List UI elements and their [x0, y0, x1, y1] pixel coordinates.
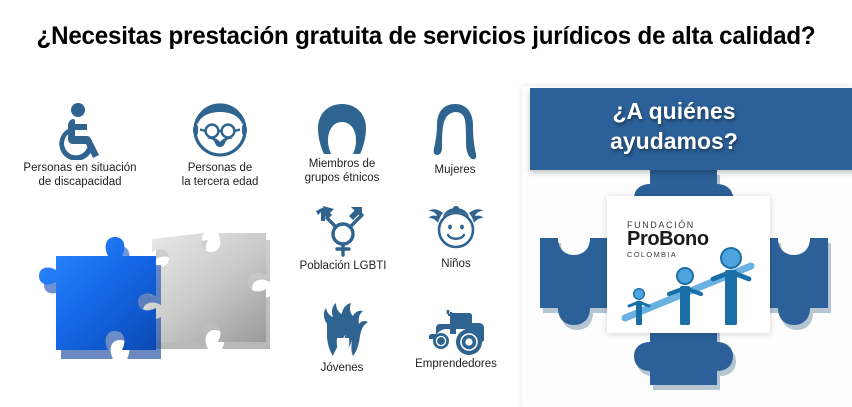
wheelchair-icon [54, 102, 106, 160]
panel-header: ¿A quiénes ayudamos? [530, 88, 852, 170]
audience-label: Personas de la tercera edad [160, 162, 280, 189]
afro-hair-icon [315, 102, 369, 156]
audience-item-lgbti[interactable]: Población LGBTI [288, 202, 398, 274]
puzzle-pieces-graphic [22, 212, 284, 380]
audience-label: Jóvenes [292, 362, 392, 376]
transgender-symbol-icon [315, 202, 371, 258]
panel-header-title: ¿A quiénes ayudamos? [530, 96, 818, 156]
audience-item-etnicos[interactable]: Miembros de grupos étnicos [290, 102, 394, 185]
audience-label: Población LGBTI [288, 260, 398, 274]
spiky-hair-icon [314, 302, 370, 360]
audience-label: Mujeres [410, 164, 500, 178]
audience-label: Miembros de grupos étnicos [290, 158, 394, 185]
right-panel: ¿A quiénes ayudamos? FUNDACIÓN ProBono C… [512, 80, 852, 407]
audience-label: Emprendedores [404, 358, 508, 372]
puzzle-piece-blue [39, 237, 161, 359]
audience-label: Personas en situación de discapacidad [8, 162, 152, 189]
long-hair-icon [430, 102, 480, 162]
logo-tile: FUNDACIÓN ProBono COLOMBIA [607, 196, 770, 333]
audience-item-ninos[interactable]: Niños [412, 198, 500, 272]
child-face-icon [427, 198, 485, 256]
audience-item-emprendedores[interactable]: Emprendedores [404, 308, 508, 372]
audience-item-jovenes[interactable]: Jóvenes [292, 302, 392, 376]
three-ascending-people-icon [619, 246, 759, 328]
elderly-face-icon [190, 100, 250, 160]
tractor-icon [424, 308, 488, 356]
audience-label: Niños [412, 258, 500, 272]
audience-item-mujeres[interactable]: Mujeres [410, 102, 500, 178]
page-title: ¿Necesitas prestación gratuita de servic… [15, 22, 837, 51]
audience-item-tercera-edad[interactable]: Personas de la tercera edad [160, 100, 280, 189]
audience-item-discapacidad[interactable]: Personas en situación de discapacidad [8, 102, 152, 189]
